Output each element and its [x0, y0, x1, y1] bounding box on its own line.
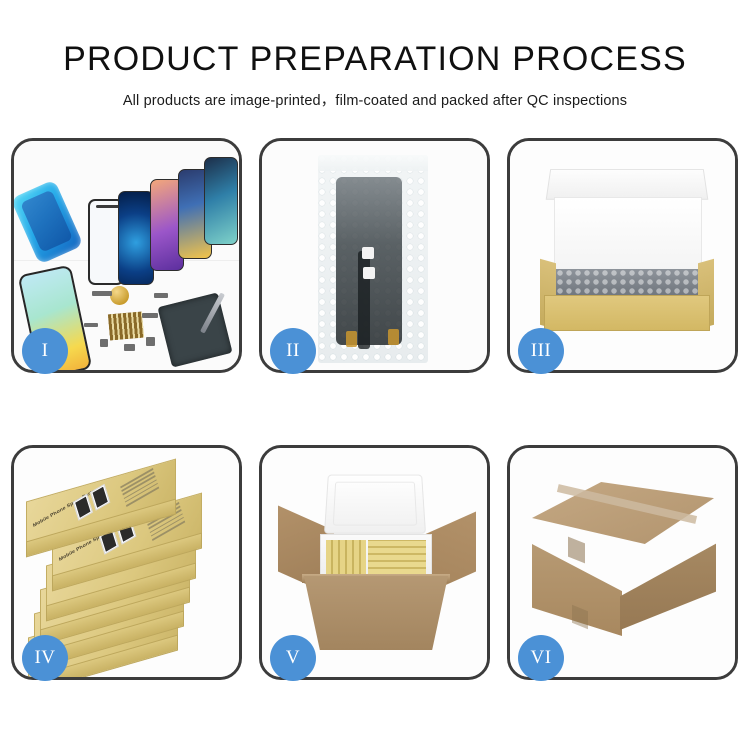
small-part-icon — [154, 293, 168, 298]
bubble-wrap-bag-icon — [318, 155, 428, 363]
process-step-1: I — [11, 138, 242, 373]
page-header: PRODUCT PREPARATION PROCESS All products… — [0, 0, 750, 110]
step-badge-4: IV — [22, 635, 68, 681]
step-badge-5: V — [270, 635, 316, 681]
box-spec-lines — [120, 468, 160, 509]
connector-tab-icon — [363, 267, 375, 279]
small-part-icon — [124, 344, 135, 351]
small-part-icon — [146, 337, 155, 346]
process-step-4: Mobile Phone Spare Parts — [11, 445, 242, 680]
process-step-grid: I II — [11, 138, 739, 680]
speaker-coil-icon — [110, 286, 129, 305]
bag-seal — [318, 155, 428, 171]
process-step-6: VI — [507, 445, 738, 680]
step-badge-3: III — [518, 328, 564, 374]
retail-boxes-left — [326, 540, 366, 574]
page-subtitle: All products are image-printed，film-coat… — [0, 89, 750, 110]
gold-contact-icon — [388, 329, 399, 345]
process-step-3: III — [507, 138, 738, 373]
process-step-5: V — [259, 445, 490, 680]
connector-tab-icon — [362, 247, 374, 259]
product-preparation-infographic: PRODUCT PREPARATION PROCESS All products… — [0, 0, 750, 750]
retail-boxes-right — [368, 540, 426, 574]
foam-sheet-icon — [554, 197, 702, 273]
small-part-icon — [100, 339, 108, 347]
blue-phone-shell-icon — [14, 179, 84, 264]
step-badge-6: VI — [518, 635, 564, 681]
small-part-icon — [92, 291, 112, 296]
small-part-icon — [142, 313, 158, 318]
gold-contact-icon — [346, 331, 357, 347]
process-step-2: II — [259, 138, 490, 373]
bubble-wrap-layer-icon — [556, 269, 700, 297]
box-lid-icon — [546, 169, 709, 200]
phone-display-icon — [204, 157, 238, 245]
box-front-wall — [544, 295, 710, 331]
step-badge-2: II — [270, 328, 316, 374]
flex-cable-icon — [358, 251, 370, 349]
logic-board-icon — [157, 292, 232, 367]
chip-grid-icon — [108, 312, 144, 341]
foam-lid-icon — [324, 475, 426, 534]
step-badge-1: I — [22, 328, 68, 374]
page-title: PRODUCT PREPARATION PROCESS — [0, 42, 750, 78]
phone-display-icon — [118, 191, 154, 285]
carton-body — [304, 576, 448, 650]
carton-tab — [568, 537, 585, 564]
small-part-icon — [84, 323, 98, 327]
